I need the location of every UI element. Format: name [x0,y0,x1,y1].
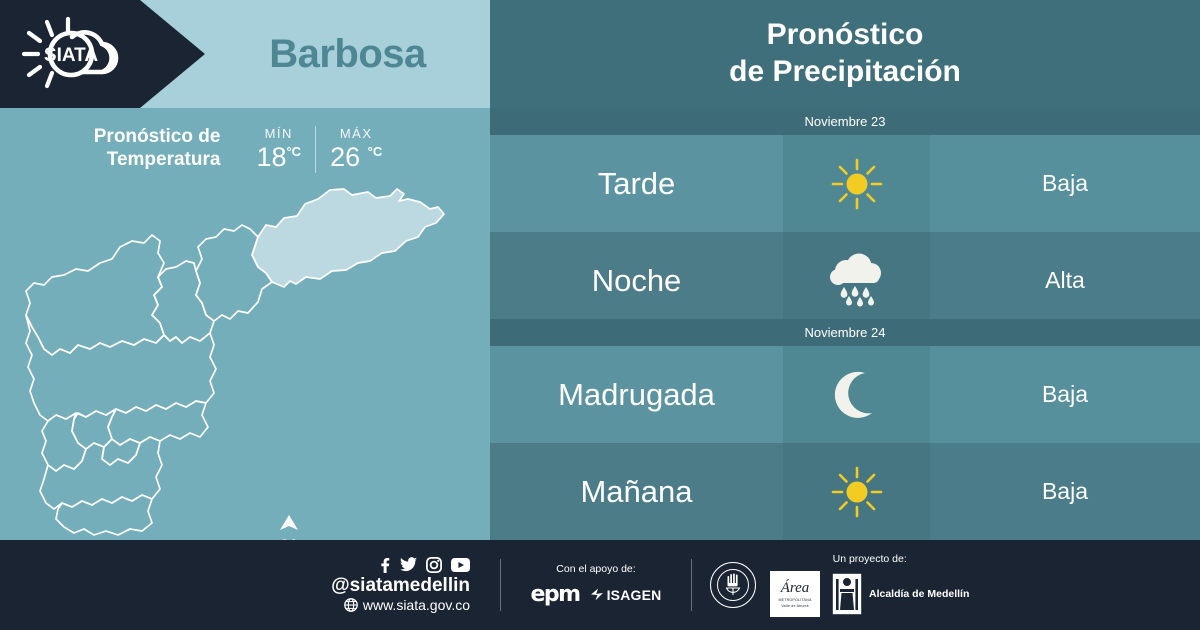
forecast-level-cell: Baja [930,135,1200,232]
city-name: Barbosa [205,0,490,108]
area-metropolitana-logo[interactable]: Área METROPOLITANA Valle de Aburrá [770,571,820,617]
map-region-copacabana[interactable] [152,261,214,343]
temperature-max-label: MÁX [330,126,382,141]
instagram-icon[interactable] [426,557,442,573]
forecast-row[interactable]: Noche [490,232,1200,329]
forecast-level-cell: Baja [930,346,1200,443]
temperature-title-line2: Temperatura [94,149,221,172]
temperature-min-label: MÍN [256,126,301,141]
aburra-valley-map: N [0,185,490,540]
map-region-envigado[interactable] [108,401,208,445]
siata-logo-icon: SIATA [16,14,134,94]
alcaldia-label: Alcaldía de Medellín [869,588,969,600]
left-panel: SIATA Barbosa Pronóstico de Temperatura … [0,0,490,540]
footer: @siatamedellin www.siata.gov.co Con el a… [0,540,1200,630]
project-inner: Un proyecto de: Área METROPOLITANA Valle… [770,553,969,617]
map-region-bello[interactable] [26,235,164,355]
youtube-icon[interactable] [451,558,470,572]
area-logo-script: Área [781,581,810,596]
area-logo-subtitle: METROPOLITANA [778,598,811,602]
temperature-summary: Pronóstico de Temperatura MÍN 18°C MÁX 2… [0,108,490,190]
forecast-period-cell: Tarde [490,135,783,232]
forecast-icon-cell [783,443,930,540]
forecast-period-cell: Noche [490,232,783,329]
udea-seal-icon [716,568,750,602]
temperature-max-value: 26 °C [330,142,382,173]
map-region-south-tip[interactable] [56,495,152,535]
forecast-icon-cell [783,346,930,443]
forecast-row[interactable]: Tarde Baj [490,135,1200,232]
temperature-max: MÁX 26 °C [315,126,396,173]
forecast-row[interactable]: Madrugada Baja [490,346,1200,443]
date-band-1: Noviembre 23 [490,108,1200,135]
forecast-period-label: Tarde [598,166,676,202]
siata-logo-banner: SIATA [0,0,205,108]
map-region-medellin[interactable] [26,315,216,421]
temperature-title: Pronóstico de Temperatura [94,126,221,172]
infographic-root: SIATA Barbosa Pronóstico de Temperatura … [0,0,1200,630]
forecast-row[interactable]: Mañana Ba [490,443,1200,540]
project-logos: Área METROPOLITANA Valle de Aburrá [770,571,969,617]
project-caption: Un proyecto de: [833,553,907,565]
forecast-period-cell: Madrugada [490,346,783,443]
sun-icon [829,156,885,212]
forecast-level-cell: Alta [930,232,1200,329]
forecast-level-label: Baja [1042,478,1088,505]
map-region-barbosa[interactable] [252,189,444,287]
alcaldia-block[interactable]: Alcaldía de Medellín [832,573,969,615]
forecast-level-label: Baja [1042,381,1088,408]
forecast-level-cell: Baja [930,443,1200,540]
area-logo-region: Valle de Aburrá [781,604,808,608]
forecast-level-label: Baja [1042,170,1088,197]
right-panel: Pronóstico de Precipitación Noviembre 23… [490,0,1200,540]
social-handle[interactable]: @siatamedellin [331,575,470,597]
precipitation-title-line2: de Precipitación [729,54,961,91]
map-region-caldas[interactable] [40,437,162,509]
temperature-min-value: 18°C [256,142,301,173]
website-row[interactable]: www.siata.gov.co [344,597,470,614]
forecast-icon-cell [783,232,930,329]
epm-logo[interactable]: epm [531,582,580,607]
forecast-icon-cell [783,135,930,232]
universidad-medellin-seal[interactable] [710,562,756,608]
facebook-icon[interactable] [377,557,391,573]
left-header: SIATA Barbosa [0,0,490,108]
date-band-2: Noviembre 24 [490,319,1200,346]
temperature-min: MÍN 18°C [242,126,315,173]
temperature-title-line1: Pronóstico de [94,126,221,149]
map-svg [0,185,490,540]
forecast-period-label: Noche [592,263,682,299]
siata-logo-text: SIATA [44,45,98,66]
website-url: www.siata.gov.co [363,597,470,614]
forecast-period-label: Madrugada [558,377,715,413]
precipitation-title-line1: Pronóstico [767,17,924,54]
forecast-level-label: Alta [1045,267,1085,294]
forecast-period-cell: Mañana [490,443,783,540]
twitter-icon[interactable] [400,557,417,573]
globe-icon [344,598,358,612]
forecast-period-label: Mañana [580,474,692,510]
footer-social-block: @siatamedellin www.siata.gov.co [0,557,500,614]
footer-support-block: Con el apoyo de: epm ISAGEN [501,563,691,607]
sun-icon [829,464,885,520]
moon-icon [832,369,882,421]
rain-cloud-icon [826,253,888,309]
map-region-la-estrella[interactable] [42,413,86,471]
support-caption: Con el apoyo de: [556,563,635,575]
temperature-values: MÍN 18°C MÁX 26 °C [242,126,396,173]
isagen-mark-icon [590,588,604,601]
precipitation-header: Pronóstico de Precipitación [490,0,1200,108]
footer-project-block: Un proyecto de: Área METROPOLITANA Valle… [692,553,969,617]
alcaldia-logo-icon [832,573,862,615]
isagen-logo[interactable]: ISAGEN [590,587,662,603]
social-icons [377,557,470,573]
compass-arrow-icon [278,515,300,531]
support-logos: epm ISAGEN [531,582,662,607]
